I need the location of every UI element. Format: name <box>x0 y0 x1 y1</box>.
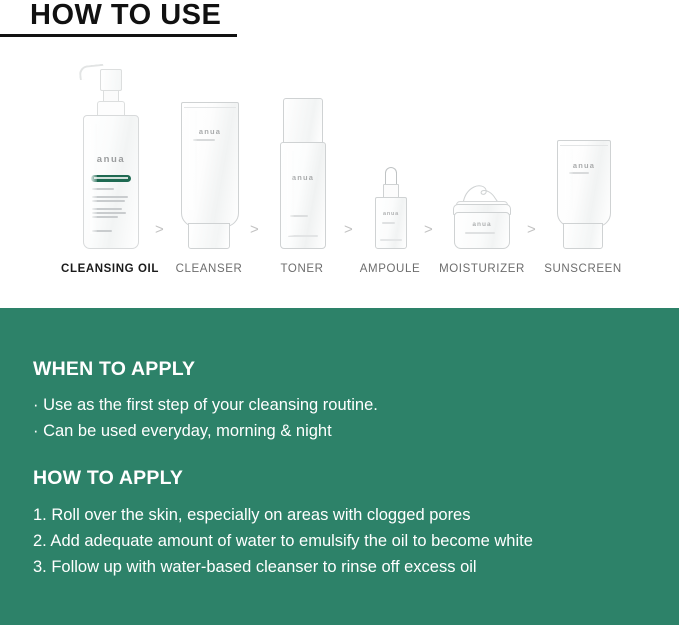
product-badge-band <box>91 175 131 182</box>
when-to-apply-block: WHEN TO APPLY · Use as the first step of… <box>33 358 378 444</box>
routine-step-label: CLEANSING OIL <box>61 263 159 275</box>
cleansing-oil-bottle-art: anua <box>83 67 137 249</box>
when-to-apply-item: · Use as the first step of your cleansin… <box>33 392 378 418</box>
ampoule-dropper-art: anua <box>375 168 405 249</box>
jar-body-icon: anua <box>454 212 510 249</box>
how-to-apply-block: HOW TO APPLY 1. Roll over the skin, espe… <box>33 467 533 580</box>
routine-step-row: anua CLEANSING OIL > <box>0 55 679 275</box>
when-to-apply-list: · Use as the first step of your cleansin… <box>33 392 378 444</box>
instructions-panel: WHEN TO APPLY · Use as the first step of… <box>0 308 679 625</box>
routine-step-cleanser[interactable]: anua CLEANSER <box>168 60 250 275</box>
arrow-separator-5: > <box>527 222 536 237</box>
arrow-separator-4: > <box>424 222 433 237</box>
how-to-use-section: HOW TO USE anua <box>0 0 679 308</box>
routine-step-sunscreen[interactable]: anua SUNSCREEN <box>538 60 628 275</box>
routine-step-label: SUNSCREEN <box>544 263 622 275</box>
how-to-apply-item: 1. Roll over the skin, especially on are… <box>33 502 533 528</box>
routine-step-label: MOISTURIZER <box>439 263 525 275</box>
when-to-apply-title: WHEN TO APPLY <box>33 358 378 381</box>
routine-step-toner[interactable]: anua TONER <box>263 60 341 275</box>
brand-wordmark: anua <box>376 211 406 217</box>
brand-wordmark: anua <box>84 154 138 165</box>
tube-body-icon: anua <box>181 102 239 227</box>
bottle-body-icon: anua <box>83 115 139 249</box>
tube-body-icon: anua <box>557 140 611 227</box>
arrow-separator-2: > <box>250 222 259 237</box>
brand-wordmark: anua <box>455 221 509 228</box>
routine-step-moisturizer[interactable]: anua MOISTURIZER <box>436 60 528 275</box>
ampoule-body-icon: anua <box>375 197 407 249</box>
how-to-apply-list: 1. Roll over the skin, especially on are… <box>33 502 533 580</box>
routine-step-label: AMPOULE <box>360 263 420 275</box>
routine-step-cleansing-oil[interactable]: anua CLEANSING OIL <box>55 60 165 275</box>
brand-wordmark: anua <box>558 161 610 170</box>
how-to-apply-item: 2. Add adequate amount of water to emuls… <box>33 528 533 554</box>
arrow-separator-1: > <box>155 222 164 237</box>
toner-bottle-art: anua <box>280 99 324 249</box>
routine-step-label: CLEANSER <box>176 263 243 275</box>
toner-cap-icon <box>283 98 323 145</box>
sunscreen-tube-art: anua <box>557 142 609 249</box>
tube-cap-icon <box>188 223 230 249</box>
cleanser-tube-art: anua <box>181 104 237 249</box>
routine-step-label: TONER <box>280 263 323 275</box>
routine-step-ampoule[interactable]: anua AMPOULE <box>355 60 425 275</box>
toner-body-icon: anua <box>280 142 326 249</box>
title-underline <box>0 34 237 37</box>
moisturizer-jar-art: anua <box>454 185 510 249</box>
brand-wordmark: anua <box>281 173 325 182</box>
arrow-separator-3: > <box>344 222 353 237</box>
when-to-apply-item: · Can be used everyday, morning & night <box>33 418 378 444</box>
brand-wordmark: anua <box>182 127 238 136</box>
pump-head-icon <box>100 69 122 91</box>
tube-cap-icon <box>563 223 603 249</box>
page-title: HOW TO USE <box>30 0 221 32</box>
how-to-apply-item: 3. Follow up with water-based cleanser t… <box>33 554 533 580</box>
how-to-apply-title: HOW TO APPLY <box>33 467 533 490</box>
